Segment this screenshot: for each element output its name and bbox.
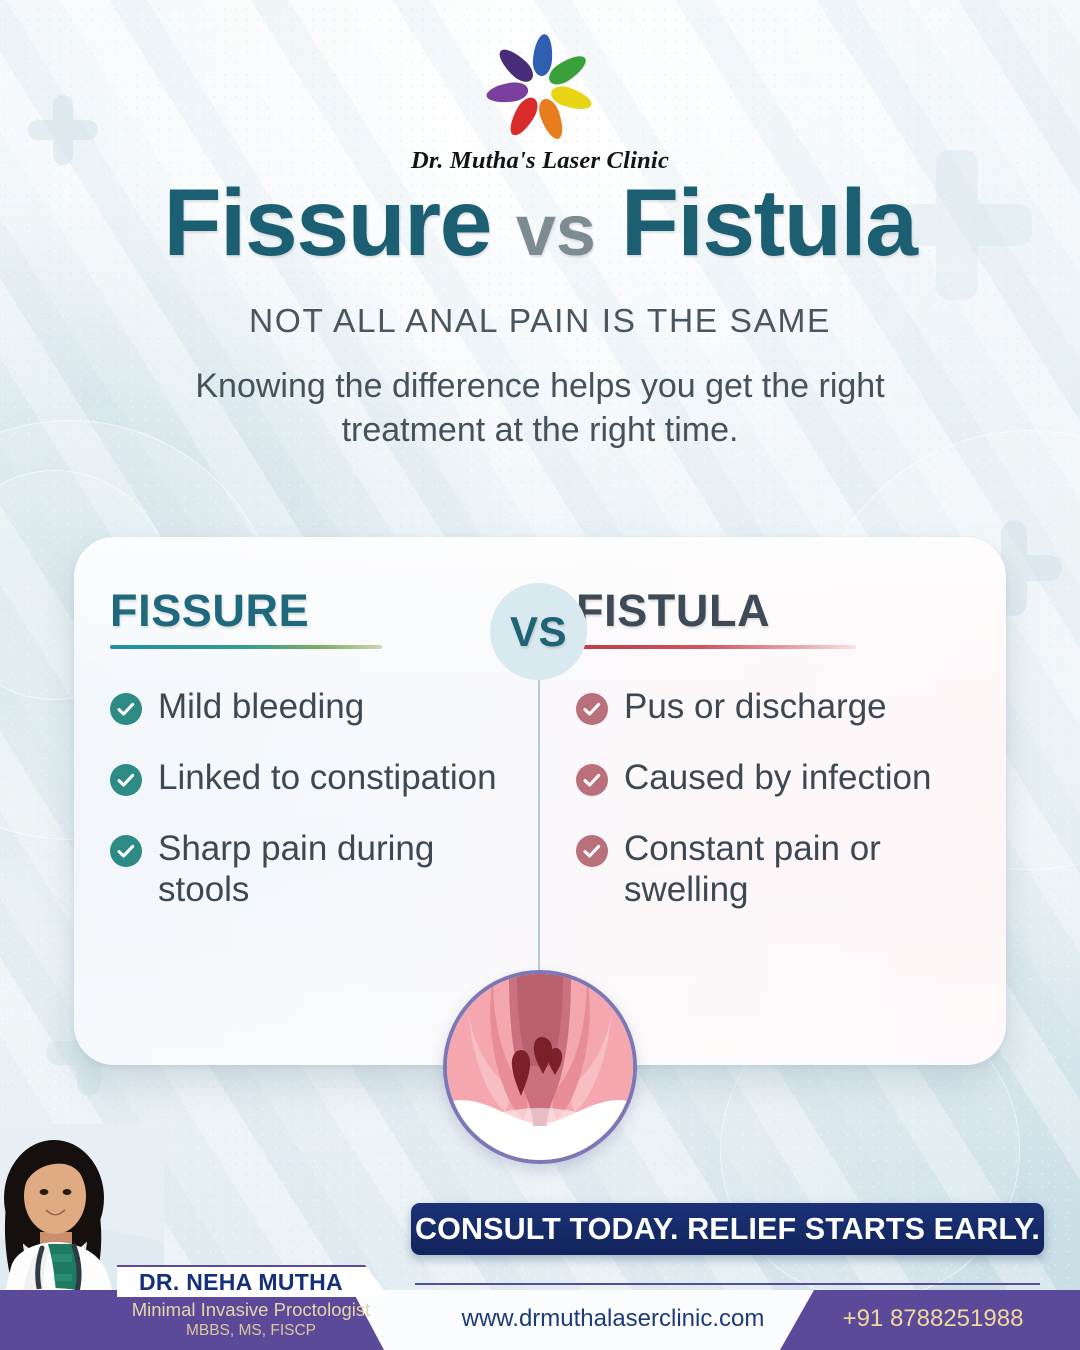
website-link[interactable]: www.drmuthalaserclinic.com — [398, 1305, 828, 1333]
check-icon — [576, 693, 608, 725]
fistula-item-list: Pus or dischargeCaused by infectionConst… — [576, 687, 1006, 911]
title-fistula: Fistula — [621, 170, 917, 276]
phone-number[interactable]: +91 8788251988 — [808, 1305, 1058, 1333]
vs-badge: VS — [490, 583, 587, 680]
page-lede: Knowing the difference helps you get the… — [0, 365, 1080, 452]
list-item-label: Mild bleeding — [158, 687, 364, 728]
list-item: Linked to constipation — [110, 758, 530, 799]
check-icon — [576, 764, 608, 796]
list-item-label: Constant pain or swelling — [624, 829, 1006, 911]
doctor-name-tab: DR. NEHA MUTHA — [117, 1265, 389, 1297]
doctor-role: Minimal Invasive Proctologist — [117, 1299, 385, 1321]
list-item-label: Caused by infection — [624, 758, 931, 799]
list-item: Pus or discharge — [576, 687, 1006, 728]
fissure-item-list: Mild bleedingLinked to constipationSharp… — [110, 687, 530, 911]
check-icon — [110, 835, 142, 867]
clinic-logo-block: Dr. Mutha's Laser Clinic — [0, 36, 1080, 175]
list-item-label: Pus or discharge — [624, 687, 887, 728]
list-item-label: Linked to constipation — [158, 758, 497, 799]
poster-root: Dr. Mutha's Laser Clinic Fissure vs Fist… — [0, 0, 1080, 1350]
doctor-name: DR. NEHA MUTHA — [117, 1267, 389, 1296]
page-title: Fissure vs Fistula — [0, 176, 1080, 271]
doctor-degrees: MBBS, MS, FISCP — [117, 1322, 385, 1340]
clinic-name: Dr. Mutha's Laser Clinic — [0, 147, 1080, 175]
footer-rule — [415, 1283, 1040, 1285]
check-icon — [110, 693, 142, 725]
page-kicker: NOT ALL ANAL PAIN IS THE SAME — [0, 303, 1080, 341]
check-icon — [576, 835, 608, 867]
fistula-underline — [576, 645, 856, 649]
list-item: Sharp pain during stools — [110, 829, 530, 911]
list-item: Caused by infection — [576, 758, 1006, 799]
list-item-label: Sharp pain during stools — [158, 829, 530, 911]
list-item: Constant pain or swelling — [576, 829, 1006, 911]
flower-petal-logo-icon — [488, 36, 592, 140]
check-icon — [110, 764, 142, 796]
fistula-column: FISTULA Pus or dischargeCaused by infect… — [576, 588, 1006, 941]
anal-canal-anatomy-illustration-icon — [443, 970, 637, 1164]
logo-petal — [494, 44, 538, 87]
title-vs: vs — [516, 191, 596, 271]
fissure-column: FISSURE Mild bleedingLinked to constipat… — [110, 588, 530, 941]
lede-line-1: Knowing the difference helps you get the… — [0, 365, 1080, 409]
column-divider — [538, 628, 540, 1018]
title-fissure: Fissure — [164, 170, 491, 276]
fissure-heading: FISSURE — [110, 588, 530, 633]
list-item: Mild bleeding — [110, 687, 530, 728]
fissure-underline — [110, 645, 382, 649]
cta-banner[interactable]: CONSULT TODAY. RELIEF STARTS EARLY. — [411, 1203, 1044, 1255]
lede-line-2: treatment at the right time. — [0, 409, 1080, 453]
fistula-heading: FISTULA — [576, 588, 1006, 633]
